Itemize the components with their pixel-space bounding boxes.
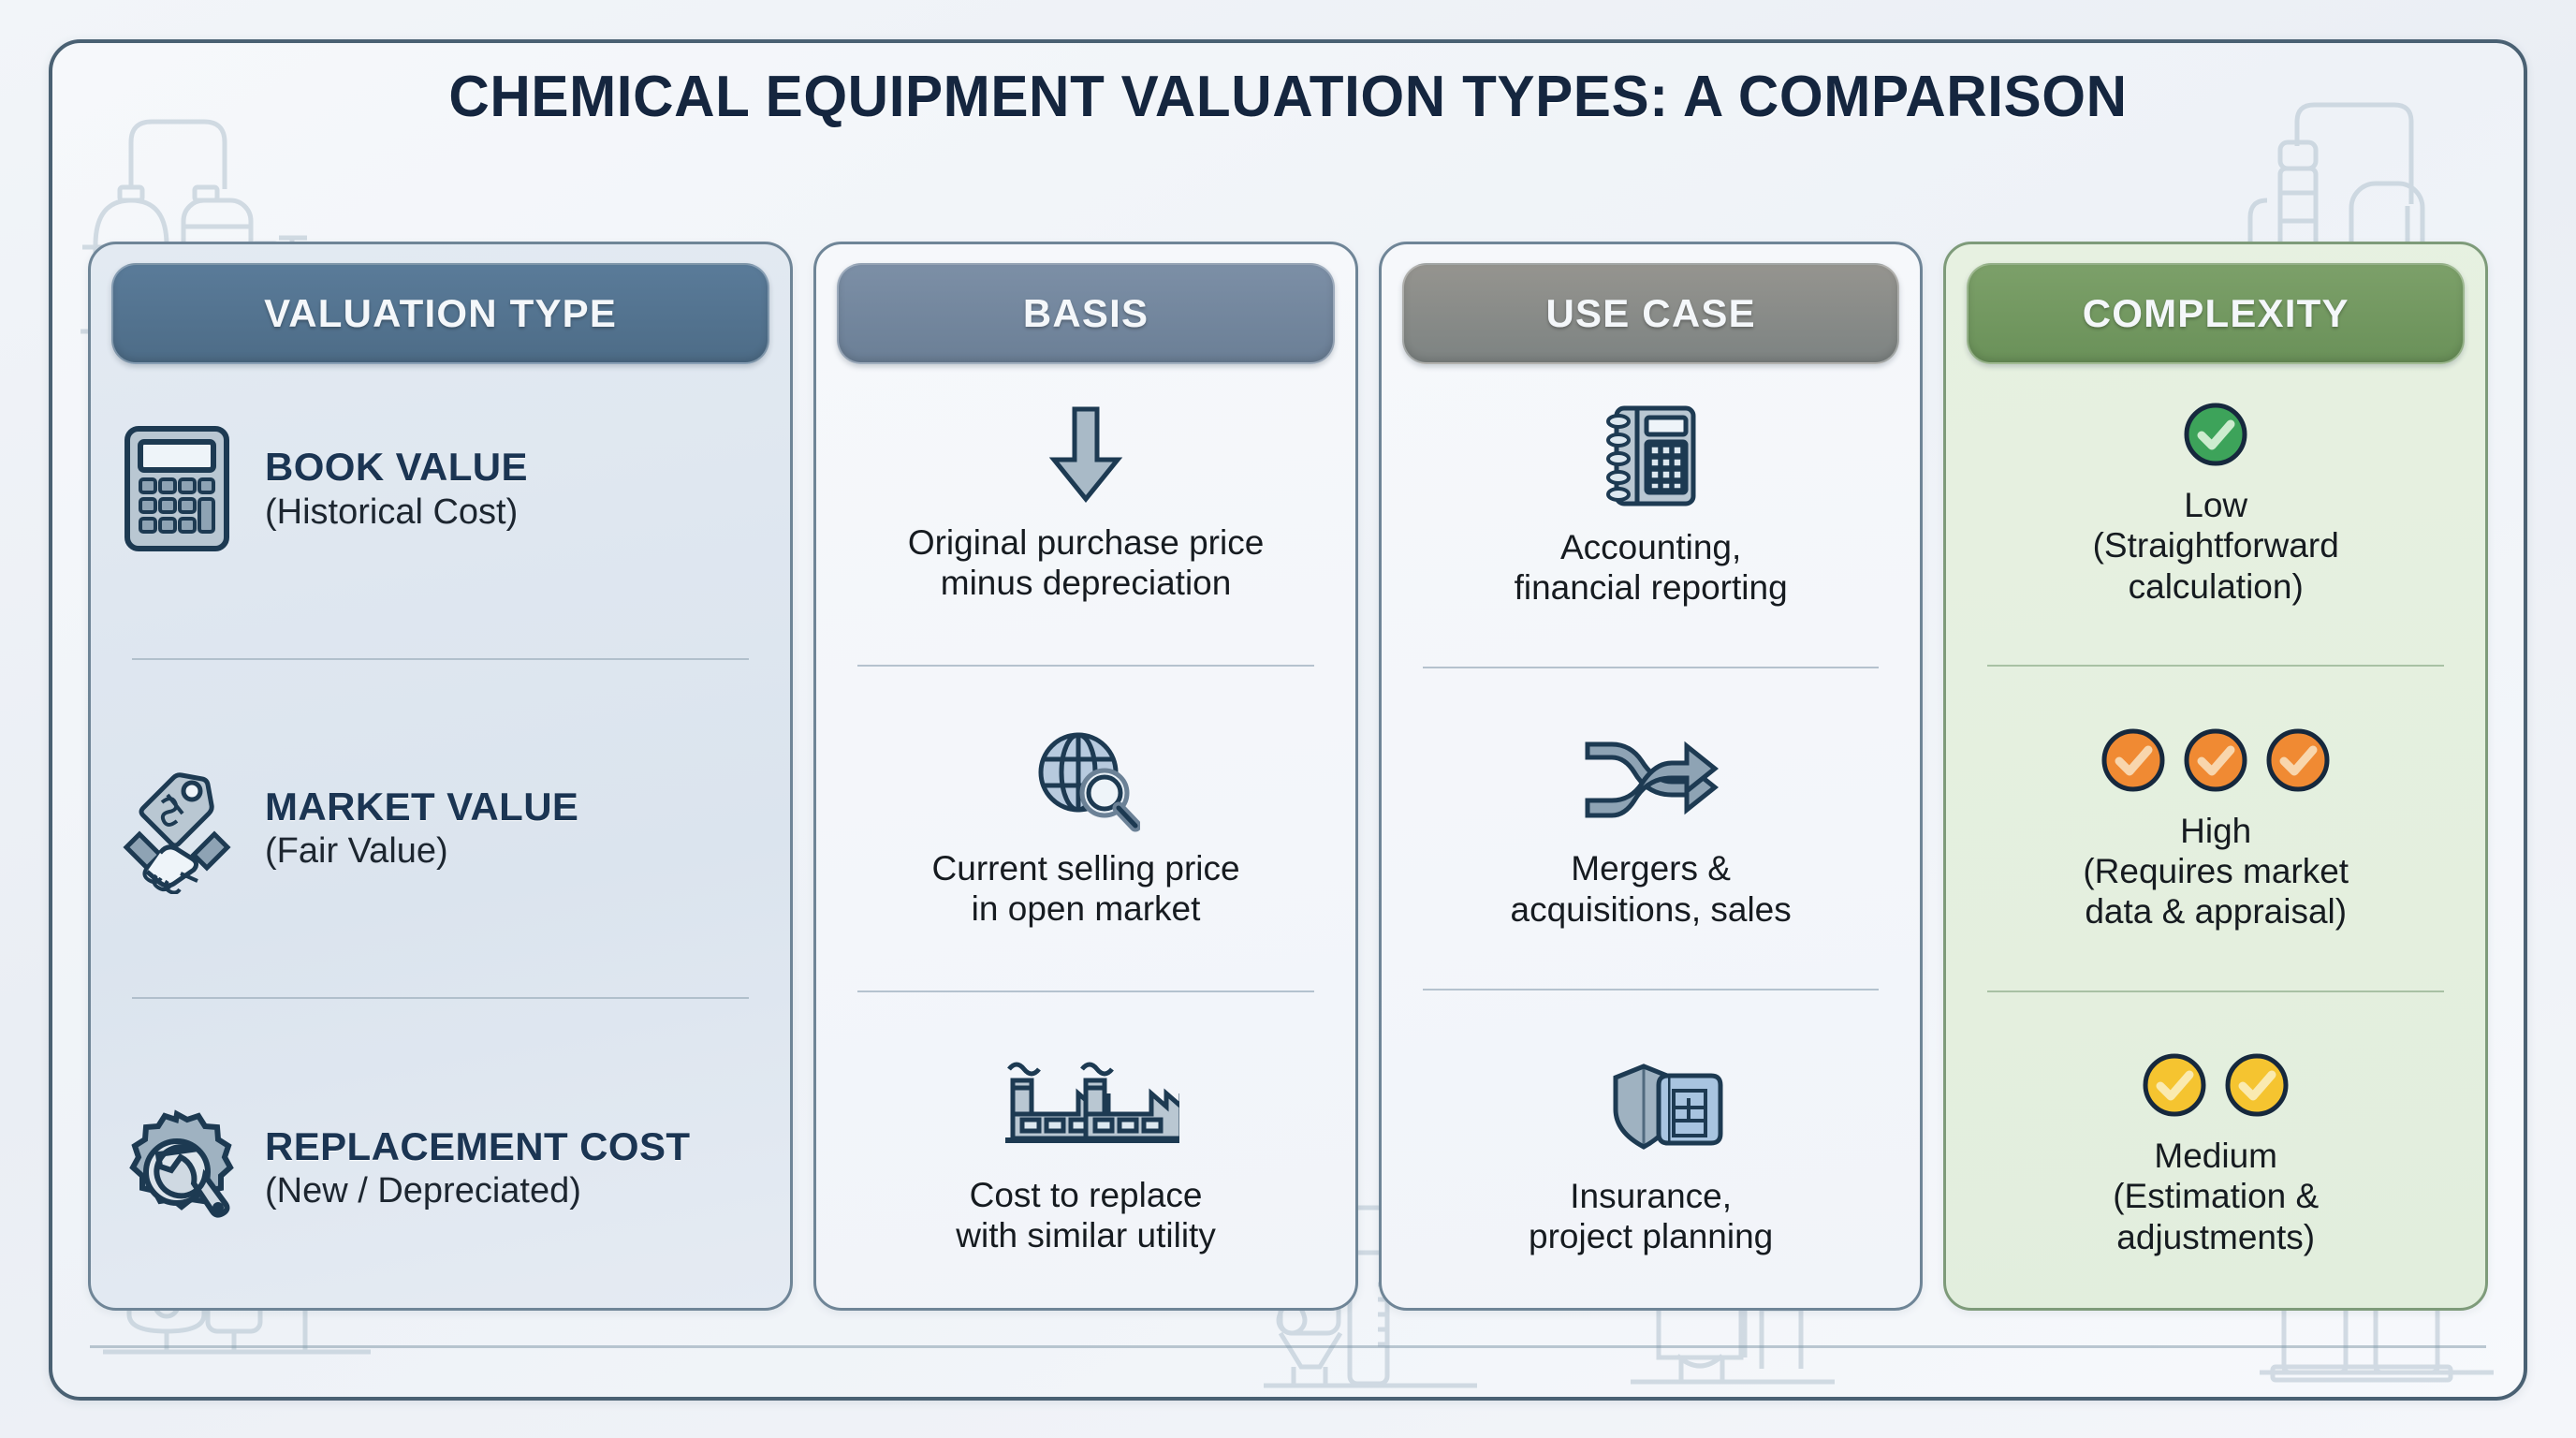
- row-label-book-value: BOOK VALUE: [265, 446, 764, 488]
- complexity-marks-medium: [2140, 1050, 2291, 1124]
- caption-line: adjustments): [2113, 1217, 2319, 1257]
- column-valuation-type: VALUATION TYPE: [88, 242, 793, 1311]
- column-body-basis: Original purchase price minus depreciati…: [833, 364, 1339, 1287]
- comparison-columns: VALUATION TYPE: [88, 242, 2488, 1311]
- check-circle-icon: [2222, 1050, 2291, 1124]
- row-caption-use-case-replacement-cost: Insurance, project planning: [1529, 1176, 1773, 1257]
- row-basis-market-value[interactable]: Current selling price in open market: [833, 724, 1339, 933]
- row-book-value[interactable]: BOOK VALUE (Historical Cost): [108, 418, 773, 560]
- caption-line: in open market: [932, 888, 1240, 929]
- caption-line: (Straightforward: [2093, 525, 2339, 565]
- caption-line: data & appraisal): [2083, 891, 2349, 932]
- column-header-use-case: USE CASE: [1402, 263, 1900, 364]
- caption-line: Mergers &: [1511, 848, 1792, 888]
- column-body-use-case: Accounting, financial reporting: [1398, 364, 1904, 1287]
- check-circle-icon: [2140, 1050, 2209, 1124]
- row-caption-basis-market-value: Current selling price in open market: [932, 848, 1240, 930]
- check-circle-icon: [2181, 726, 2250, 800]
- infographic-poster: CHEMICAL EQUIPMENT VALUATION TYPES: A CO…: [0, 0, 2576, 1438]
- column-body-valuation-type: BOOK VALUE (Historical Cost): [108, 364, 773, 1287]
- caption-line: with similar utility: [956, 1215, 1216, 1255]
- caption-line: (Requires market: [2083, 851, 2349, 891]
- row-complexity-medium[interactable]: Medium (Estimation & adjustments): [1963, 1047, 2468, 1261]
- check-circle-icon: [2263, 726, 2333, 800]
- row-use-case-book-value[interactable]: Accounting, financial reporting: [1398, 397, 1904, 612]
- row-complexity-low[interactable]: Low (Straightforward calculation): [1963, 396, 2468, 610]
- caption-line: Low: [2093, 485, 2339, 525]
- row-caption-basis-replacement-cost: Cost to replace with similar utility: [956, 1175, 1216, 1256]
- caption-line: High: [2083, 811, 2349, 851]
- row-caption-use-case-market-value: Mergers & acquisitions, sales: [1511, 848, 1792, 930]
- column-use-case: USE CASE: [1379, 242, 1924, 1311]
- row-divider: [1987, 665, 2444, 667]
- globe-magnifier-icon: [1032, 727, 1140, 837]
- caption-line: calculation): [2093, 566, 2339, 607]
- row-caption-complexity-medium: Medium (Estimation & adjustments): [2113, 1136, 2319, 1257]
- row-divider: [1987, 990, 2444, 992]
- row-divider: [857, 665, 1314, 667]
- row-sublabel-market-value: (Fair Value): [265, 831, 764, 872]
- row-use-case-market-value[interactable]: Mergers & acquisitions, sales: [1398, 724, 1904, 933]
- column-header-complexity: COMPLEXITY: [1967, 263, 2465, 364]
- row-label-replacement-cost: REPLACEMENT COST: [265, 1125, 764, 1167]
- row-caption-complexity-high: High (Requires market data & appraisal): [2083, 811, 2349, 932]
- column-body-complexity: Low (Straightforward calculation): [1963, 364, 2468, 1287]
- caption-line: Current selling price: [932, 848, 1240, 888]
- caption-line: minus depreciation: [908, 563, 1264, 603]
- shield-blueprint-icon: [1576, 1049, 1726, 1165]
- caption-line: Insurance,: [1529, 1176, 1773, 1216]
- row-divider: [132, 658, 749, 660]
- row-sublabel-book-value: (Historical Cost): [265, 492, 764, 533]
- caption-line: Cost to replace: [956, 1175, 1216, 1215]
- row-divider: [1423, 667, 1880, 668]
- complexity-marks-high: [2099, 726, 2333, 800]
- row-market-value[interactable]: MARKET VALUE (Fair Value): [108, 757, 773, 900]
- row-caption-complexity-low: Low (Straightforward calculation): [2093, 485, 2339, 607]
- two-factories-icon: [992, 1054, 1179, 1164]
- calculator-icon: [117, 423, 237, 554]
- column-header-valuation-type: VALUATION TYPE: [111, 263, 769, 364]
- ground-line-decoration: [90, 1345, 2486, 1348]
- column-basis: BASIS Original purchase price minus depr…: [813, 242, 1358, 1311]
- column-header-basis: BASIS: [837, 263, 1335, 364]
- ledger-calculator-icon: [1596, 401, 1706, 516]
- column-complexity: COMPLEXITY Low: [1943, 242, 2488, 1311]
- row-caption-use-case-book-value: Accounting, financial reporting: [1515, 527, 1788, 609]
- row-use-case-replacement-cost[interactable]: Insurance, project planning: [1398, 1046, 1904, 1261]
- poster-frame: CHEMICAL EQUIPMENT VALUATION TYPES: A CO…: [49, 39, 2527, 1401]
- row-basis-replacement-cost[interactable]: Cost to replace with similar utility: [833, 1050, 1339, 1260]
- row-complexity-high[interactable]: High (Requires market data & appraisal): [1963, 722, 2468, 936]
- handshake-price-tag-icon: [117, 763, 237, 894]
- row-divider: [1423, 989, 1880, 990]
- down-arrow-icon: [1041, 402, 1131, 511]
- gear-wrench-icon: [117, 1103, 237, 1234]
- caption-line: acquisitions, sales: [1511, 889, 1792, 930]
- complexity-marks-low: [2181, 400, 2250, 474]
- page-title: CHEMICAL EQUIPMENT VALUATION TYPES: A CO…: [90, 64, 2487, 130]
- row-caption-basis-book-value: Original purchase price minus depreciati…: [908, 522, 1264, 604]
- caption-line: Original purchase price: [908, 522, 1264, 563]
- row-replacement-cost[interactable]: REPLACEMENT COST (New / Depreciated): [108, 1097, 773, 1240]
- row-basis-book-value[interactable]: Original purchase price minus depreciati…: [833, 398, 1339, 608]
- row-label-market-value: MARKET VALUE: [265, 785, 764, 828]
- row-divider: [132, 997, 749, 999]
- caption-line: Medium: [2113, 1136, 2319, 1176]
- caption-line: project planning: [1529, 1216, 1773, 1256]
- caption-line: (Estimation &: [2113, 1176, 2319, 1216]
- row-divider: [857, 990, 1314, 992]
- caption-line: Accounting,: [1515, 527, 1788, 567]
- caption-line: financial reporting: [1515, 567, 1788, 608]
- check-circle-icon: [2181, 400, 2250, 474]
- row-sublabel-replacement-cost: (New / Depreciated): [265, 1171, 764, 1211]
- shuffle-arrows-icon: [1580, 727, 1722, 837]
- check-circle-icon: [2099, 726, 2168, 800]
